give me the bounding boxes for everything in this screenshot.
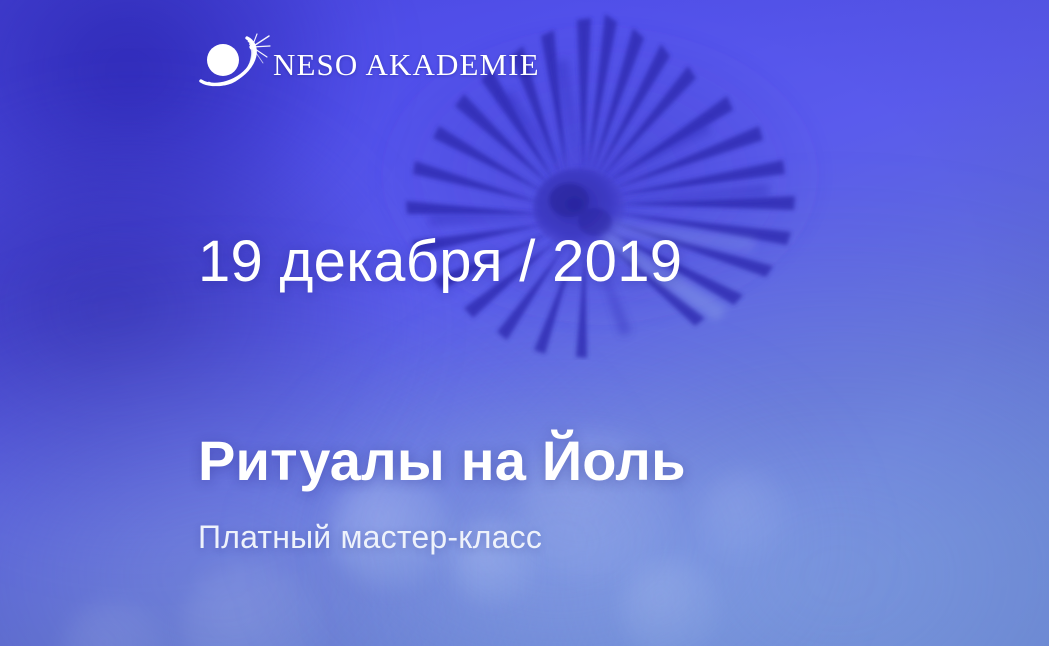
- bokeh-circle: [700, 470, 790, 560]
- event-announcement-banner: NESO AKADEMIE 19 декабря / 2019 Ритуалы …: [0, 0, 1049, 646]
- brand-logo[interactable]: NESO AKADEMIE: [197, 33, 540, 95]
- brand-logo-text: NESO AKADEMIE: [273, 49, 540, 80]
- bokeh-circle: [620, 560, 720, 646]
- bokeh-circle: [60, 600, 170, 646]
- event-title: Ритуалы на Йоль: [198, 432, 686, 491]
- neso-orbit-sphere-icon: [197, 33, 271, 95]
- event-subtitle: Платный мастер-класс: [198, 520, 542, 555]
- background-glow-center-bottom: [300, 376, 820, 646]
- event-date: 19 декабря / 2019: [198, 232, 682, 293]
- bokeh-circle: [180, 560, 320, 646]
